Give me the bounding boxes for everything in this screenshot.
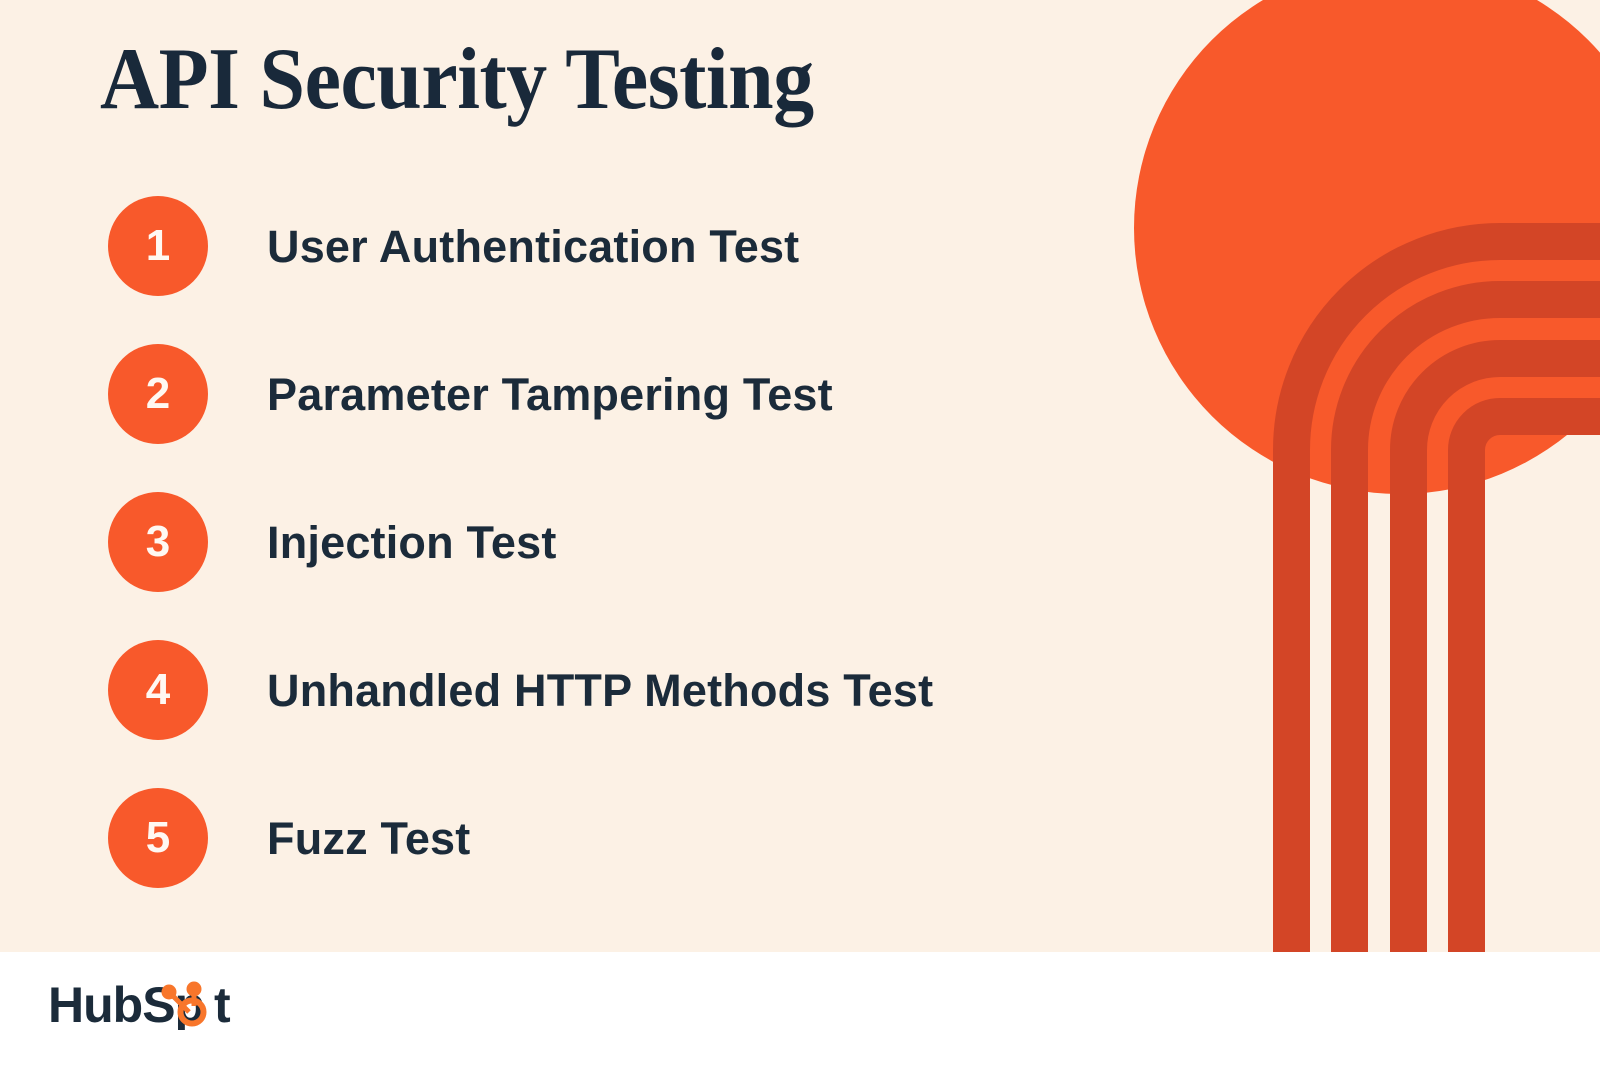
content-panel: API Security Testing 1 User Authenticati…	[0, 0, 1600, 952]
hubspot-logo-icon: HubSp t	[48, 978, 244, 1030]
list-item: 1 User Authentication Test	[108, 196, 1108, 296]
decor-arc-1	[1292, 242, 1600, 953]
list-item: 3 Injection Test	[108, 492, 1108, 592]
list-item: 5 Fuzz Test	[108, 788, 1108, 888]
list-item-label: Unhandled HTTP Methods Test	[267, 668, 933, 713]
list-item-label: User Authentication Test	[267, 224, 799, 269]
page-title: API Security Testing	[100, 34, 814, 126]
list-item-label: Parameter Tampering Test	[267, 372, 833, 417]
list-item-label: Injection Test	[267, 520, 557, 565]
list-item: 2 Parameter Tampering Test	[108, 344, 1108, 444]
svg-text:t: t	[214, 978, 231, 1030]
list-item-label: Fuzz Test	[267, 816, 470, 861]
list-item-number-badge: 4	[108, 640, 208, 740]
hubspot-logo: HubSp t	[48, 974, 244, 1030]
list-item-number-badge: 1	[108, 196, 208, 296]
list-item-number-badge: 5	[108, 788, 208, 888]
footer-bar: HubSp t	[0, 952, 1600, 1066]
infographic-canvas: API Security Testing 1 User Authenticati…	[0, 0, 1600, 1066]
list-item: 4 Unhandled HTTP Methods Test	[108, 640, 1108, 740]
decor-arc-group	[1292, 242, 1600, 953]
list-item-number-badge: 2	[108, 344, 208, 444]
decor-circle	[1134, 0, 1600, 494]
decor-arc-3	[1409, 359, 1600, 953]
decor-arc-2	[1350, 300, 1600, 953]
decor-arc-4	[1467, 417, 1600, 953]
list-item-number-badge: 3	[108, 492, 208, 592]
test-list: 1 User Authentication Test 2 Parameter T…	[108, 196, 1108, 936]
